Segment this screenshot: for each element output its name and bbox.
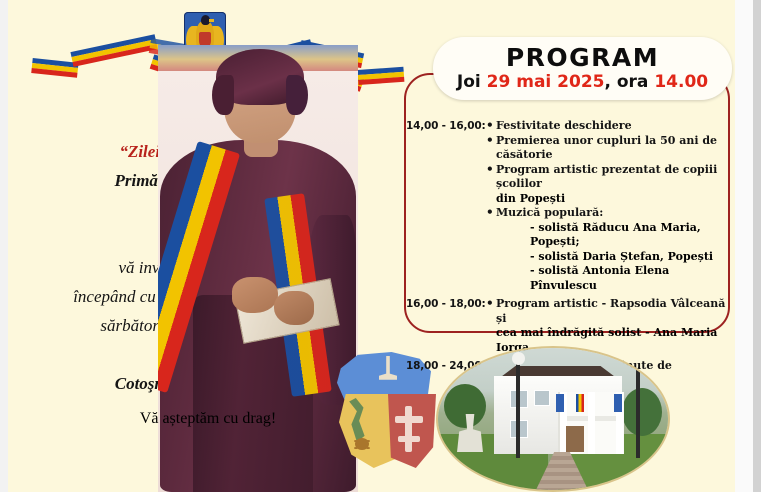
program-title: PROGRAM bbox=[506, 44, 659, 71]
right-edge-strip bbox=[753, 0, 761, 492]
program-date: 29 mai 2025 bbox=[487, 72, 605, 92]
event-poster: Cu ocazia “Zilei Comunei Popeşti”, Primă… bbox=[8, 0, 735, 492]
program-item: Program artistic - Rapsodia Vâlceană și bbox=[486, 297, 726, 326]
program-date-line: Joi 29 mai 2025, ora 14.00 bbox=[457, 71, 708, 93]
program-item: Program artistic prezentat de copiii șco… bbox=[486, 163, 726, 192]
program-item: Muzică populară: bbox=[486, 206, 726, 221]
closing-line: Vă așteptăm cu drag! bbox=[140, 410, 276, 427]
program-row: 14,00 - 16,00: Festivitate deschidere Pr… bbox=[406, 119, 726, 293]
program-row-items: Festivitate deschidere Premierea unor cu… bbox=[486, 119, 726, 293]
program-soloist: - solistă Daria Ștefan, Popești bbox=[486, 250, 726, 265]
popesti-town-hall-building-photo bbox=[436, 346, 670, 492]
program-item: Festivitate deschidere bbox=[486, 119, 726, 134]
program-time-prefix: , ora bbox=[604, 72, 648, 92]
program-soloist: - solistă Antonia Elena Pînvulescu bbox=[486, 264, 726, 293]
program-item: Premierea unor cupluri la 50 ani de căsă… bbox=[486, 134, 726, 163]
program-row-time: 14,00 - 16,00: bbox=[406, 119, 486, 132]
program-row-time: 16,00 - 18,00: bbox=[406, 297, 486, 310]
program-soloist: - solistă Răducu Ana Maria, Popești; bbox=[486, 221, 726, 250]
left-margin bbox=[0, 0, 8, 492]
program-row-items: Program artistic - Rapsodia Vâlceană și … bbox=[486, 297, 726, 355]
program-item-cont: din Popești bbox=[486, 192, 726, 207]
program-header-pill: PROGRAM Joi 29 mai 2025, ora 14.00 bbox=[433, 37, 732, 100]
program-date-prefix: Joi bbox=[457, 72, 481, 92]
program-time: 14.00 bbox=[654, 72, 708, 92]
